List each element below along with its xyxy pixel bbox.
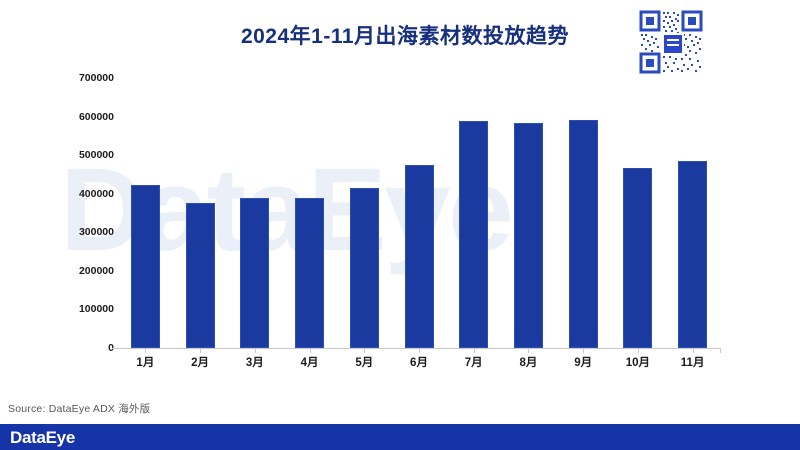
bar-3月[interactable]: [240, 198, 269, 348]
y-axis-tick-label: 600000: [52, 111, 114, 123]
bar-11月[interactable]: [678, 161, 707, 348]
bar-4月[interactable]: [295, 198, 324, 348]
chart-page: DataEye 2024年1-11月出海素材数投放趋势: [0, 0, 800, 450]
y-axis-tick-label: 500000: [52, 149, 114, 161]
x-axis-tick-label: 7月: [446, 354, 502, 370]
y-axis-tick-label: 0: [52, 342, 114, 354]
bar-1月[interactable]: [131, 185, 160, 348]
x-axis-tick-mark: [419, 348, 420, 353]
x-axis-tick-mark: [638, 348, 639, 353]
x-axis-tick-mark: [693, 348, 694, 353]
y-axis: 0100000200000300000400000500000600000700…: [52, 78, 114, 348]
source-note: Source: DataEye ADX 海外版: [8, 401, 150, 416]
bar-7月[interactable]: [459, 121, 488, 348]
x-axis-tick-mark: [364, 348, 365, 353]
x-axis-tick-mark: [474, 348, 475, 353]
brand-logo: DataEye: [10, 428, 75, 448]
y-axis-tick-label: 300000: [52, 226, 114, 238]
bar-chart: 0100000200000300000400000500000600000700…: [0, 78, 800, 378]
x-axis-tick-label: 5月: [336, 354, 392, 370]
x-axis-tick-label: 11月: [665, 354, 721, 370]
x-axis-tick-mark: [200, 348, 201, 353]
x-axis-tick-label: 9月: [555, 354, 611, 370]
bar-series: [118, 78, 720, 348]
x-axis-tick-label: 10月: [610, 354, 666, 370]
bar-10月[interactable]: [623, 168, 652, 348]
x-axis-tick-mark: [720, 348, 721, 353]
x-axis-tick-label: 2月: [172, 354, 228, 370]
x-axis-tick-label: 8月: [500, 354, 556, 370]
x-axis-tick-label: 3月: [227, 354, 283, 370]
x-axis-tick-mark: [528, 348, 529, 353]
x-axis-line: [112, 348, 720, 349]
y-axis-tick-label: 400000: [52, 188, 114, 200]
x-axis-tick-mark: [583, 348, 584, 353]
y-axis-tick-label: 100000: [52, 303, 114, 315]
x-axis-tick-label: 1月: [117, 354, 173, 370]
bar-9月[interactable]: [569, 120, 598, 348]
x-axis: 1月2月3月4月5月6月7月8月9月10月11月: [118, 354, 720, 378]
bar-2月[interactable]: [186, 203, 215, 348]
x-axis-tick-mark: [145, 348, 146, 353]
x-axis-tick-label: 6月: [391, 354, 447, 370]
qr-code-icon[interactable]: [637, 8, 705, 76]
plot-area: [118, 78, 720, 348]
footer-bar: [0, 424, 800, 450]
qr-center-logo-icon: [662, 33, 684, 55]
bar-6月[interactable]: [405, 165, 434, 348]
x-axis-tick-mark: [310, 348, 311, 353]
x-axis-tick-label: 4月: [282, 354, 338, 370]
x-axis-tick-mark: [255, 348, 256, 353]
bar-5月[interactable]: [350, 188, 379, 348]
bar-8月[interactable]: [514, 123, 543, 348]
page-title: 2024年1-11月出海素材数投放趋势: [190, 20, 620, 50]
y-axis-tick-label: 200000: [52, 265, 114, 277]
